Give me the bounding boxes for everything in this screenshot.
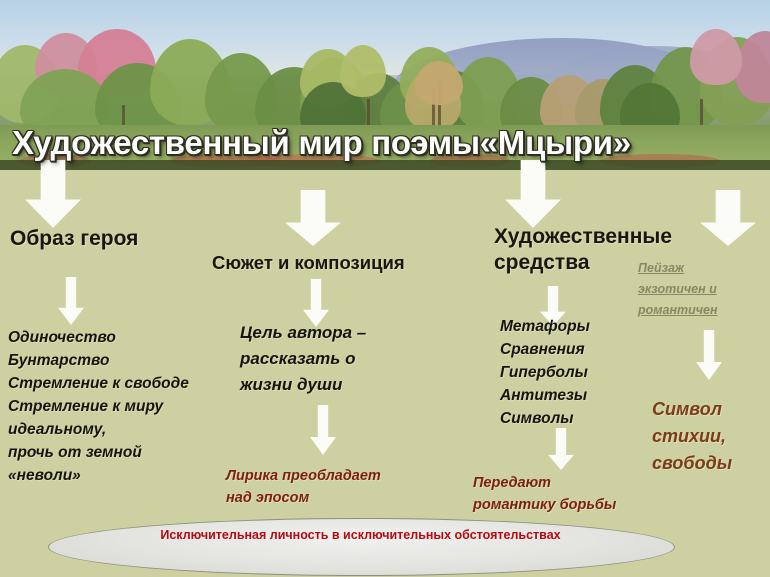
column-2-items: Цель автора – рассказать о жизни души xyxy=(240,320,450,397)
arrow-down-icon-col2-conclusion xyxy=(310,405,336,455)
column-3-items: Метафоры Сравнения Гиперболы Антитезы Си… xyxy=(500,316,650,431)
column-4-heading: Пейзаж экзотичен и романтичен xyxy=(638,258,762,321)
arrow-down-icon-col3 xyxy=(505,160,561,228)
arrow-down-icon-col3-conclusion xyxy=(548,428,574,470)
column-2-conclusion: Лирика преобладает над эпосом xyxy=(226,465,466,510)
arrow-down-icon-col2 xyxy=(285,190,341,246)
arrow-down-icon-col1-sub xyxy=(58,277,84,325)
column-4-heading-line-1: Пейзаж xyxy=(638,258,762,279)
column-1-heading: Образ героя xyxy=(10,226,138,252)
arrow-down-icon-col4 xyxy=(700,190,756,246)
arrow-down-icon-col4-sub xyxy=(696,330,722,380)
column-3-conclusion: Передают романтику борьбы xyxy=(473,472,688,517)
summary-text: Исключительная личность в исключительных… xyxy=(48,525,673,546)
column-2-heading: Сюжет и композиция xyxy=(212,252,405,275)
presentation-slide: Художественный мир поэмы«Мцыри» Образ ге… xyxy=(0,0,770,577)
page-title: Художественный мир поэмы«Мцыри» xyxy=(12,124,631,162)
column-4-heading-line-3: романтичен xyxy=(638,300,762,321)
column-1-items: Одиночество Бунтарство Стремление к своб… xyxy=(8,327,223,488)
arrow-down-icon-col1 xyxy=(25,160,81,228)
column-4-conclusion: Символ стихии, свободы xyxy=(652,396,767,477)
column-4-heading-line-2: экзотичен и xyxy=(638,279,762,300)
